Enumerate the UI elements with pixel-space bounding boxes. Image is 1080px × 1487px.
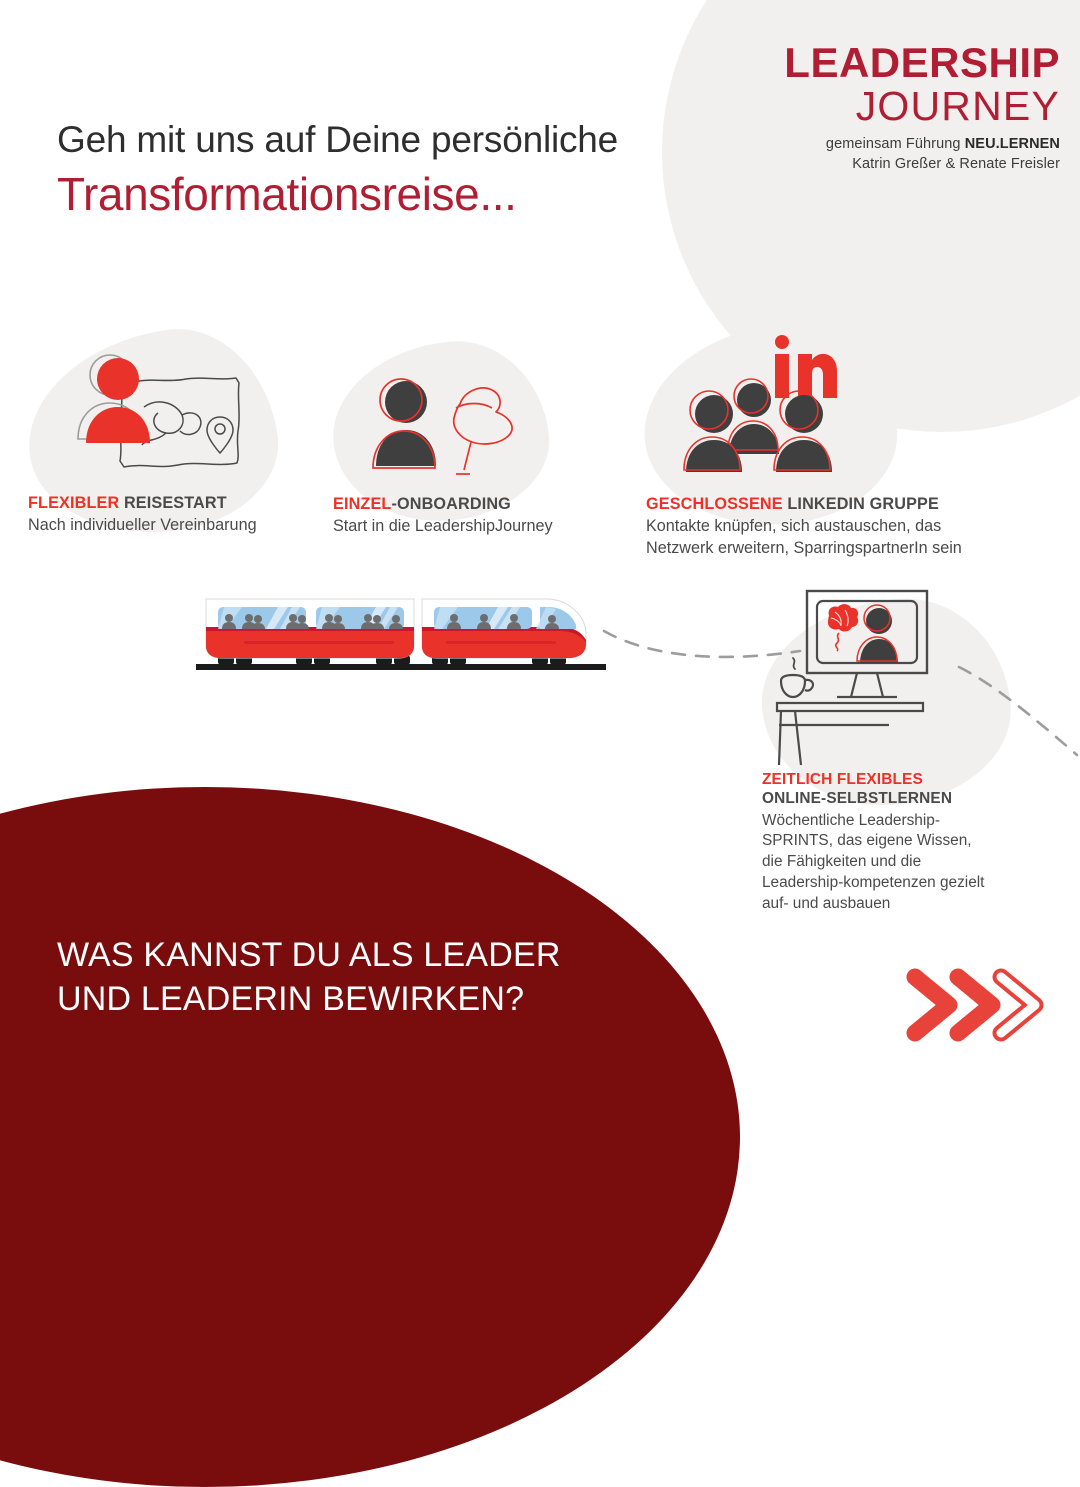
headline-line-1: Geh mit uns auf Deine persönliche bbox=[57, 118, 697, 162]
dashed-connector-icon bbox=[955, 655, 1080, 770]
step-title-rest: REISESTART bbox=[119, 494, 226, 512]
step-caption-online-selbstlernen: ZEITLICH FLEXIBLES ONLINE-SELBSTLERNEN W… bbox=[762, 770, 992, 915]
page-title: Geh mit uns auf Deine persönliche Transf… bbox=[57, 118, 697, 222]
step-title-rest: ONLINE-SELBSTLERNEN bbox=[762, 789, 992, 808]
logo-authors: Katrin Greßer & Renate Freisler bbox=[700, 156, 1060, 172]
step-caption-linkedin-gruppe: GESCHLOSSENE LINKEDIN GRUPPE Kontakte kn… bbox=[646, 494, 986, 559]
logo-word-leadership: LEADERSHIP bbox=[700, 42, 1060, 84]
step-body: Nach individueller Vereinbarung bbox=[28, 515, 318, 537]
person-with-pushpin-icon bbox=[368, 370, 533, 495]
triple-chevron-right-icon bbox=[905, 965, 1055, 1045]
person-with-map-icon bbox=[58, 345, 283, 490]
step-title: EINZEL-ONBOARDING bbox=[333, 494, 623, 514]
brand-logo: LEADERSHIP JOURNEY gemeinsam Führung NEU… bbox=[700, 42, 1060, 172]
step-title-rest: LINKEDIN GRUPPE bbox=[783, 495, 939, 513]
footer-question: WAS KANNST DU ALS LEADER UND LEADERIN BE… bbox=[57, 933, 677, 1021]
logo-word-journey: JOURNEY bbox=[700, 84, 1060, 130]
step-title-highlight: FLEXIBLER bbox=[28, 494, 119, 512]
decorative-ellipse-bottom-left bbox=[0, 787, 740, 1487]
step-title: ZEITLICH FLEXIBLES ONLINE-SELBSTLERNEN bbox=[762, 770, 992, 809]
step-title-highlight: GESCHLOSSENE bbox=[646, 495, 783, 513]
step-caption-einzel-onboarding: EINZEL-ONBOARDING Start in die Leadershi… bbox=[333, 494, 623, 538]
headline-line-2: Transformationsreise... bbox=[57, 166, 697, 222]
step-title-highlight: EINZEL bbox=[333, 495, 391, 513]
step-body: Kontakte knüpfen, sich austauschen, das … bbox=[646, 516, 986, 559]
logo-tagline-normal: gemeinsam Führung bbox=[826, 136, 965, 152]
desk-monitor-learning-icon bbox=[765, 585, 955, 770]
red-white-train-icon bbox=[196, 585, 606, 675]
step-caption-flexibler-reisestart: FLEXIBLER REISESTART Nach individueller … bbox=[28, 493, 318, 537]
footer-question-line-2: UND LEADERIN BEWIRKEN? bbox=[57, 977, 677, 1021]
poster-canvas: Geh mit uns auf Deine persönliche Transf… bbox=[0, 0, 1080, 1080]
people-group-linkedin-icon bbox=[672, 330, 872, 490]
logo-tagline-bold: NEU.LERNEN bbox=[965, 136, 1060, 152]
step-body: Wöchentliche Leadership-SPRINTS, das eig… bbox=[762, 811, 992, 916]
step-title: FLEXIBLER REISESTART bbox=[28, 493, 318, 513]
step-title-highlight: ZEITLICH FLEXIBLES bbox=[762, 770, 992, 789]
step-title: GESCHLOSSENE LINKEDIN GRUPPE bbox=[646, 494, 986, 514]
step-body: Start in die LeadershipJourney bbox=[333, 516, 623, 538]
step-title-rest: -ONBOARDING bbox=[391, 495, 510, 513]
footer-question-line-1: WAS KANNST DU ALS LEADER bbox=[57, 933, 677, 977]
logo-tagline: gemeinsam Führung NEU.LERNEN bbox=[700, 136, 1060, 152]
